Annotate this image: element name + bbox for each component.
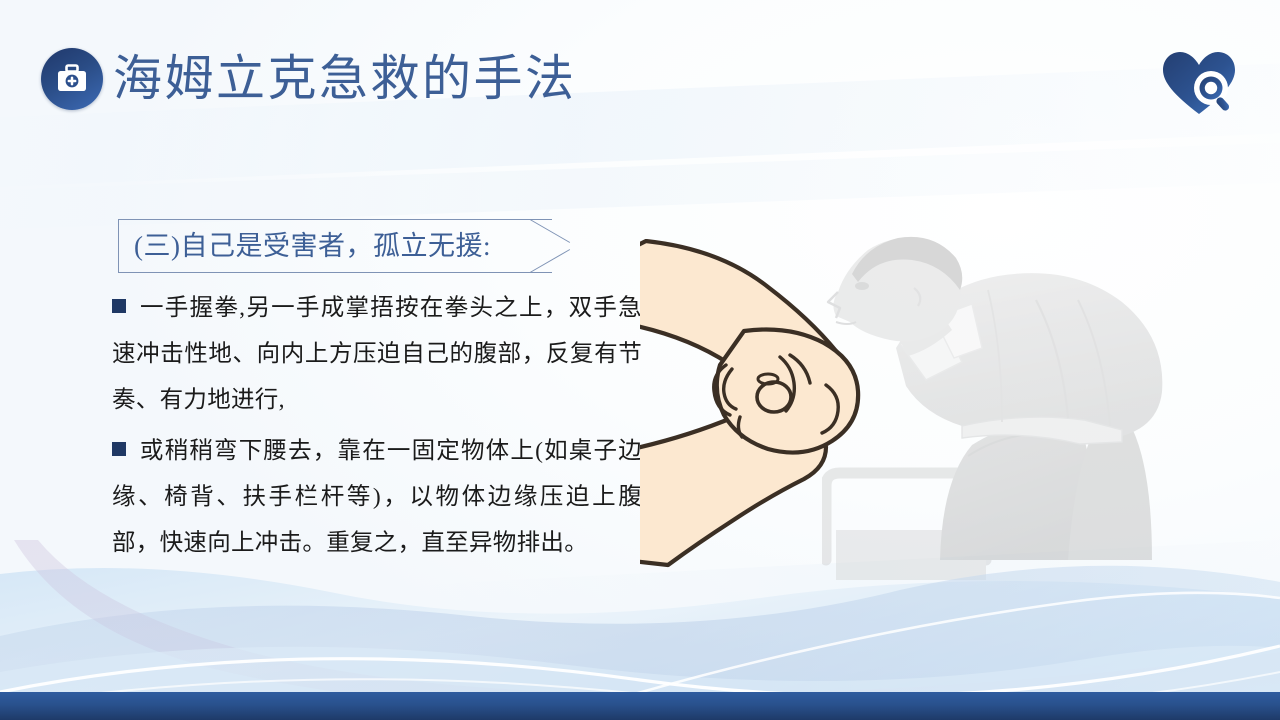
footer-bar xyxy=(0,692,1280,720)
bullet-item: 一手握拳,另一手成掌捂按在拳头之上，双手急速冲击性地、向内上方压迫自己的腹部，反… xyxy=(112,285,642,423)
heart-search-icon xyxy=(1162,50,1236,116)
figure-area xyxy=(630,215,1230,580)
text-content-column: (三)自己是受害者，孤立无援: 一手握拳,另一手成掌捂按在拳头之上，双手急速冲击… xyxy=(0,0,660,600)
bullet-text: 或稍稍弯下腰去，靠在一固定物体上(如桌子边缘、椅背、扶手栏杆等)，以物体边缘压迫… xyxy=(112,438,642,556)
section-heading-banner: (三)自己是受害者，孤立无援: xyxy=(118,219,552,273)
square-bullet-icon xyxy=(112,299,126,313)
clasped-fists-abdominal-thrust-illustration xyxy=(640,239,890,569)
square-bullet-icon xyxy=(112,442,126,456)
slide-canvas: 海姆立克急救的手法 xyxy=(0,0,1280,720)
bullet-text: 一手握拳,另一手成掌捂按在拳头之上，双手急速冲击性地、向内上方压迫自己的腹部，反… xyxy=(112,295,642,413)
section-heading-label: (三)自己是受害者，孤立无援: xyxy=(134,227,491,265)
